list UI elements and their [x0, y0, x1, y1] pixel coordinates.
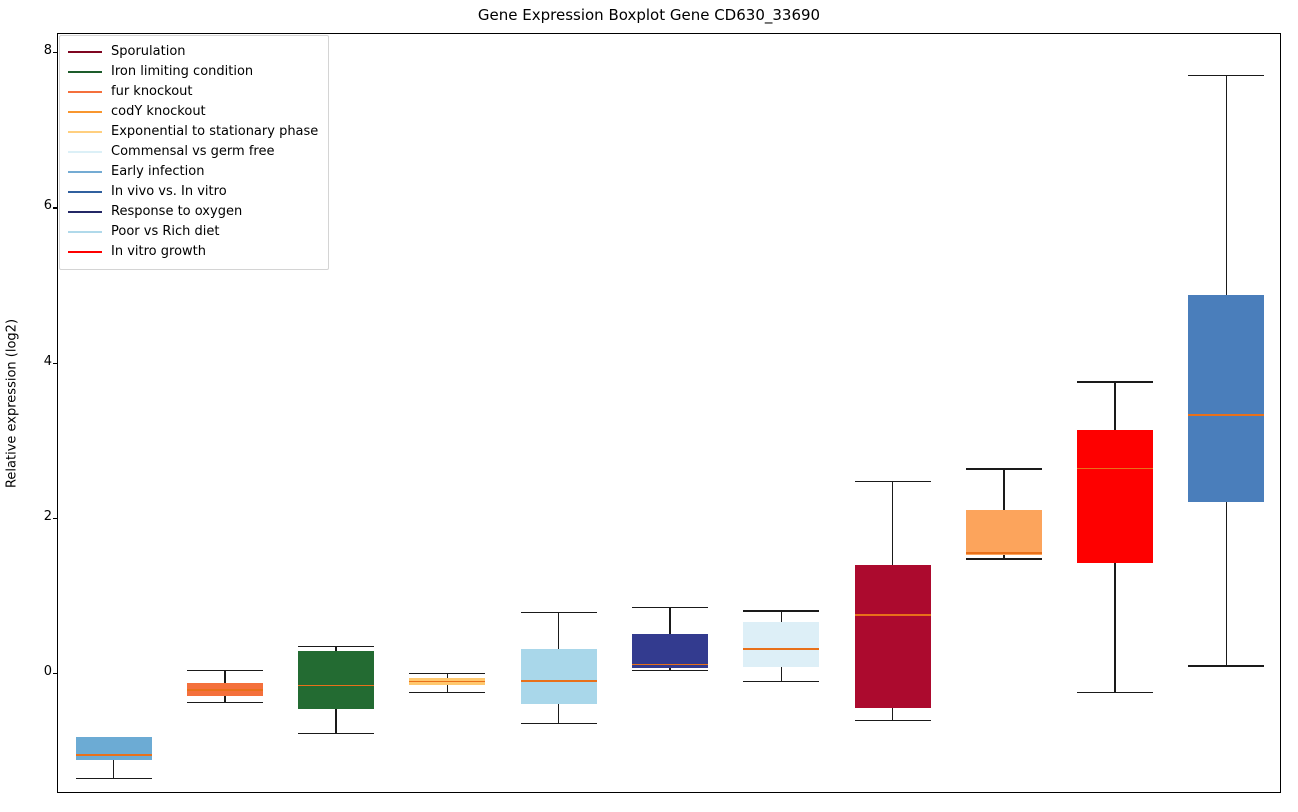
legend-swatch-line-icon — [68, 91, 102, 93]
legend-item[interactable]: Response to oxygen — [68, 202, 320, 222]
cap-upper — [1188, 75, 1264, 76]
y-tick-label: 0 — [30, 664, 52, 679]
legend-item[interactable]: Sporulation — [68, 42, 320, 62]
legend-swatch-line-icon — [68, 151, 102, 153]
box-rect[interactable] — [1188, 295, 1264, 502]
cap-lower — [1188, 665, 1264, 666]
whisker-lower — [1226, 502, 1227, 665]
chart-title: Gene Expression Boxplot Gene CD630_33690 — [0, 6, 1298, 24]
whisker-upper — [1226, 75, 1227, 295]
legend-item[interactable]: In vitro growth — [68, 242, 320, 262]
median-line — [1188, 414, 1264, 416]
legend-item-label: Response to oxygen — [111, 202, 242, 222]
legend-swatch-line-icon — [68, 251, 102, 253]
legend-item[interactable]: fur knockout — [68, 82, 320, 102]
y-tick-label: 2 — [30, 509, 52, 524]
legend-swatch-line-icon — [68, 191, 102, 193]
legend-item-label: Iron limiting condition — [111, 62, 253, 82]
legend-swatch-line-icon — [68, 231, 102, 233]
legend-item[interactable]: In vivo vs. In vitro — [68, 182, 320, 202]
y-tick-label: 8 — [30, 43, 52, 58]
legend-item-label: Exponential to stationary phase — [111, 122, 318, 142]
legend-item-label: Early infection — [111, 162, 204, 182]
legend-item[interactable]: Iron limiting condition — [68, 62, 320, 82]
legend-item[interactable]: Exponential to stationary phase — [68, 122, 320, 142]
legend: SporulationIron limiting conditionfur kn… — [59, 35, 329, 270]
legend-item[interactable]: Poor vs Rich diet — [68, 222, 320, 242]
legend-swatch-line-icon — [68, 111, 102, 113]
legend-swatch-line-icon — [68, 71, 102, 73]
legend-swatch-line-icon — [68, 171, 102, 173]
legend-item-label: fur knockout — [111, 82, 193, 102]
figure-canvas: Gene Expression Boxplot Gene CD630_33690… — [0, 0, 1298, 812]
legend-item-label: Poor vs Rich diet — [111, 222, 219, 242]
y-axis-label-text: Relative expression (log2) — [5, 254, 20, 554]
legend-swatch-line-icon — [68, 51, 102, 53]
legend-item[interactable]: Early infection — [68, 162, 320, 182]
legend-item[interactable]: codY knockout — [68, 102, 320, 122]
legend-swatch-line-icon — [68, 211, 102, 213]
legend-item-label: In vitro growth — [111, 242, 206, 262]
legend-swatch-line-icon — [68, 131, 102, 133]
y-axis-label: Relative expression (log2) — [2, 0, 22, 812]
legend-item-label: In vivo vs. In vitro — [111, 182, 227, 202]
legend-item[interactable]: Commensal vs germ free — [68, 142, 320, 162]
y-tick-label: 6 — [30, 198, 52, 213]
legend-item-label: Sporulation — [111, 42, 186, 62]
legend-item-label: codY knockout — [111, 102, 206, 122]
legend-item-label: Commensal vs germ free — [111, 142, 274, 162]
y-tick-label: 4 — [30, 354, 52, 369]
